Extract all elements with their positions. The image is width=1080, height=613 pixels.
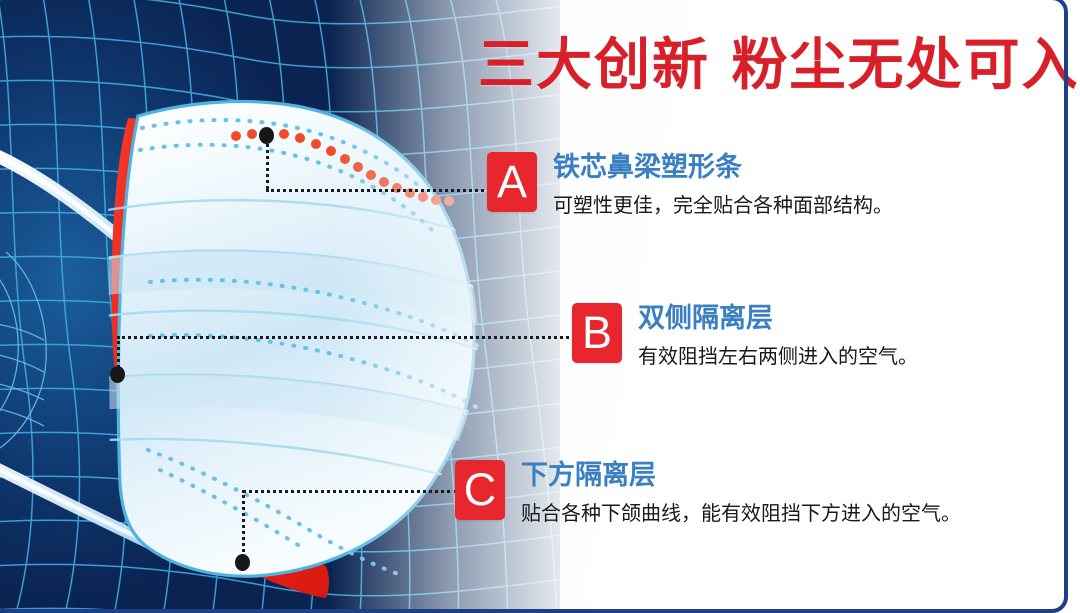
leader-dot-b xyxy=(110,366,125,383)
callout-c-heading: 下方隔离层 xyxy=(521,461,961,491)
badge-a: A xyxy=(487,152,537,212)
leader-vline-c xyxy=(242,490,245,558)
badge-b: B xyxy=(572,303,622,363)
callout-b-body: 有效阻挡左右两侧进入的空气。 xyxy=(638,345,918,368)
callout-a-body: 可塑性更佳，完全贴合各种面部结构。 xyxy=(553,194,893,217)
callout-b-heading: 双侧隔离层 xyxy=(638,304,918,334)
callout-c-text: 下方隔离层 贴合各种下颌曲线，能有效阻挡下方进入的空气。 xyxy=(521,460,961,525)
callout-a-text: 铁芯鼻梁塑形条 可塑性更佳，完全贴合各种面部结构。 xyxy=(553,152,893,217)
leader-hline-b xyxy=(117,336,575,339)
leader-vline-b xyxy=(117,336,120,368)
badge-c: C xyxy=(455,460,505,520)
page-title: 三大创新 粉尘无处可入 xyxy=(478,36,1080,96)
leader-hline-a xyxy=(266,189,490,192)
callout-c: C 下方隔离层 贴合各种下颌曲线，能有效阻挡下方进入的空气。 xyxy=(455,460,961,525)
callout-b-text: 双侧隔离层 有效阻挡左右两侧进入的空气。 xyxy=(638,303,918,368)
poster-root: 三大创新 粉尘无处可入 A 铁芯鼻梁塑形条 可塑性更佳，完全贴合各种面部结构。 … xyxy=(0,0,1080,613)
leader-dot-a xyxy=(259,127,274,144)
callout-b: B 双侧隔离层 有效阻挡左右两侧进入的空气。 xyxy=(572,303,918,368)
leader-hline-c xyxy=(242,490,458,493)
callout-a: A 铁芯鼻梁塑形条 可塑性更佳，完全贴合各种面部结构。 xyxy=(487,152,893,217)
callout-a-heading: 铁芯鼻梁塑形条 xyxy=(553,153,893,183)
leader-dot-c xyxy=(235,554,250,571)
leader-vline-a xyxy=(266,137,269,189)
callout-c-body: 贴合各种下颌曲线，能有效阻挡下方进入的空气。 xyxy=(521,502,961,525)
